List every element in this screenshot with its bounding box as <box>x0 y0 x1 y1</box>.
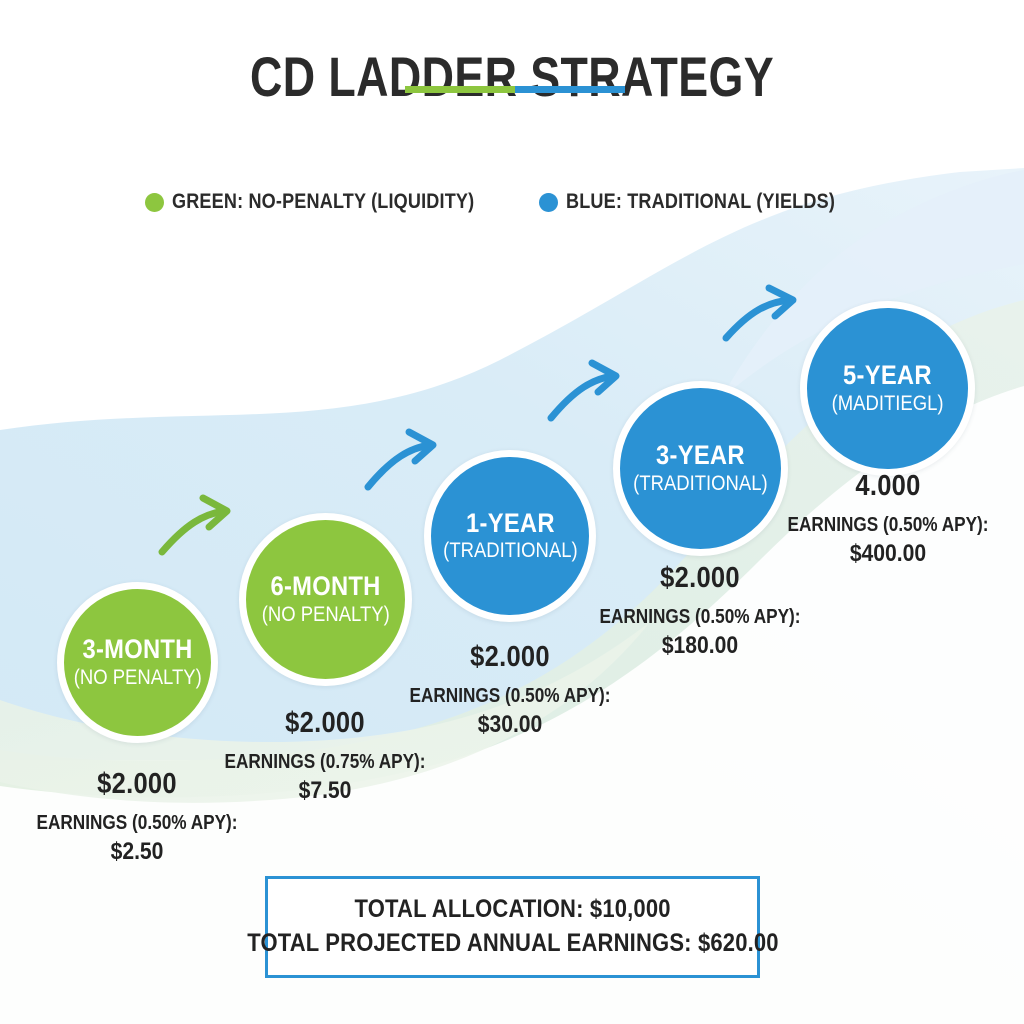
bubble-term-label: 6-MONTH <box>270 572 380 600</box>
earnings-label: EARNINGS (0.50% APY): <box>407 685 613 708</box>
bubble-type-label: (NO PENALTY) <box>73 666 201 690</box>
caption-3-year: $2.000 EARNINGS (0.50% APY): $180.00 <box>580 562 820 660</box>
earnings-value: $400.00 <box>782 540 993 568</box>
bubble-type-label: (TRADITIONAL) <box>633 472 768 496</box>
divider-green-segment <box>405 86 515 93</box>
earnings-label: EARNINGS (0.50% APY): <box>785 514 991 537</box>
bubble-type-label: (MADITIEGL) <box>832 392 944 416</box>
earnings-label: EARNINGS (0.75% APY): <box>222 751 428 774</box>
bubble-3-month[interactable]: 3-MONTH (NO PENALTY) <box>57 582 218 743</box>
legend: GREEN: NO-PENALTY (LIQUIDITY) BLUE: TRAD… <box>0 190 1024 214</box>
bubble-type-label: (TRADITIONAL) <box>443 539 578 563</box>
bubble-3-year[interactable]: 3-YEAR (TRADITIONAL) <box>613 381 788 556</box>
earnings-value: $2.50 <box>31 838 242 866</box>
earnings-label: EARNINGS (0.50% APY): <box>34 812 240 835</box>
legend-label-green: GREEN: NO-PENALTY (LIQUIDITY) <box>172 190 474 214</box>
bubble-1-year[interactable]: 1-YEAR (TRADITIONAL) <box>424 450 596 622</box>
summary-total-allocation: TOTAL ALLOCATION: $10,000 <box>354 893 670 927</box>
earnings-value: $180.00 <box>594 632 805 660</box>
legend-item-green: GREEN: NO-PENALTY (LIQUIDITY) <box>145 190 524 214</box>
earnings-label: EARNINGS (0.50% APY): <box>597 606 803 629</box>
bubble-term-label: 1-YEAR <box>466 509 555 537</box>
title-block: CD LADDER STRATEGY <box>0 48 1024 107</box>
summary-box: TOTAL ALLOCATION: $10,000 TOTAL PROJECTE… <box>265 876 760 978</box>
caption-5-year: 4.000 EARNINGS (0.50% APY): $400.00 <box>768 470 1008 568</box>
amount-value: 4.000 <box>782 470 993 503</box>
bubble-term-label: 5-YEAR <box>843 361 932 389</box>
bubble-term-label: 3-MONTH <box>82 635 192 663</box>
legend-label-blue: BLUE: TRADITIONAL (YIELDS) <box>566 190 835 214</box>
earnings-value: $7.50 <box>219 777 430 805</box>
bubble-type-label: (NO PENALTY) <box>261 603 389 627</box>
summary-total-earnings: TOTAL PROJECTED ANNUAL EARNINGS: $620.00 <box>247 927 778 961</box>
legend-item-blue: BLUE: TRADITIONAL (YIELDS) <box>539 190 879 214</box>
circle-swatch-icon <box>539 193 558 212</box>
title-divider <box>405 86 625 93</box>
bubble-5-year[interactable]: 5-YEAR (MADITIEGL) <box>800 301 975 476</box>
circle-swatch-icon <box>145 193 164 212</box>
bubble-6-month[interactable]: 6-MONTH (NO PENALTY) <box>239 513 412 686</box>
page-title: CD LADDER STRATEGY <box>102 48 921 107</box>
infographic-canvas: CD LADDER STRATEGY GREEN: NO-PENALTY (LI… <box>0 0 1024 1024</box>
bubble-term-label: 3-YEAR <box>656 441 745 469</box>
earnings-value: $30.00 <box>404 711 615 739</box>
divider-blue-segment <box>515 86 625 93</box>
